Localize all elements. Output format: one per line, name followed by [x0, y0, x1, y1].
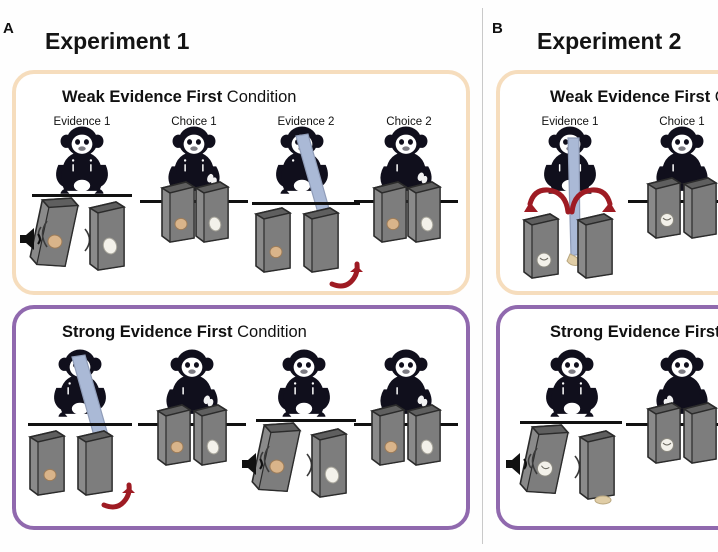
scene-a-weak-choice-2 — [354, 122, 466, 290]
container-box-icon — [522, 212, 560, 278]
container-box-icon — [192, 403, 228, 465]
container-box-icon — [370, 403, 406, 465]
condition-box-b-weak: Weak Evidence First Condition Evidence 1… — [496, 70, 718, 295]
speaker-icon — [504, 451, 538, 477]
condition-emphasis: Weak Evidence First — [62, 88, 222, 106]
condition-label-a-strong: Strong Evidence First Condition — [62, 323, 307, 342]
container-box-icon — [194, 180, 230, 242]
condition-suffix: Condition — [222, 88, 296, 106]
condition-suffix: Condition — [233, 323, 307, 341]
condition-emphasis: Strong Evidence First — [62, 323, 233, 341]
container-box-icon — [28, 429, 66, 495]
container-box-icon — [88, 200, 126, 270]
container-box-icon — [254, 206, 292, 272]
panel-letter-a: A — [3, 20, 14, 37]
platform-line — [28, 423, 132, 426]
condition-label-b-weak: Weak Evidence First Condition — [550, 88, 718, 107]
condition-emphasis: Weak Evidence First — [550, 88, 710, 106]
reward-pellet-icon — [594, 495, 612, 505]
container-box-icon — [372, 180, 408, 242]
container-box-icon — [156, 403, 192, 465]
scene-a-strong-choice-2 — [354, 345, 466, 513]
container-box-icon — [310, 427, 348, 497]
panel-title-experiment-2: Experiment 2 — [537, 28, 681, 55]
scene-a-weak-evidence-1 — [26, 122, 138, 290]
chimpanzee-icon — [266, 345, 342, 419]
scene-a-strong-choice-1 — [138, 345, 250, 513]
panel-divider — [482, 8, 483, 544]
figure-root: A Experiment 1 Weak Evidence First Condi… — [0, 0, 718, 552]
curved-arrow-icon — [100, 471, 140, 511]
container-box-icon — [160, 180, 196, 242]
panel-letter-b: B — [492, 20, 503, 37]
scene-a-strong-evidence-2 — [250, 345, 362, 513]
condition-label-a-weak: Weak Evidence First Condition — [62, 88, 297, 107]
chimpanzee-icon — [534, 345, 610, 419]
scene-a-weak-choice-1 — [138, 122, 250, 290]
condition-box-a-strong: Strong Evidence First Condition — [12, 305, 470, 530]
condition-box-a-weak: Weak Evidence First Condition Evidence 1… — [12, 70, 470, 295]
container-box-icon — [406, 180, 442, 242]
speaker-icon — [240, 451, 274, 477]
speaker-icon — [18, 226, 52, 252]
scene-b-strong-evidence-1 — [514, 345, 626, 513]
scene-b-weak-evidence-1 — [514, 122, 626, 290]
condition-box-b-strong: Strong Evidence First Condition — [496, 305, 718, 530]
container-box-icon — [682, 176, 718, 238]
condition-suffix: Condition — [710, 88, 718, 106]
container-box-icon — [682, 401, 718, 463]
platform-line — [252, 202, 360, 205]
container-box-icon — [578, 429, 616, 499]
scene-a-weak-evidence-2 — [250, 122, 362, 290]
scene-a-strong-evidence-1 — [26, 345, 138, 513]
condition-label-b-strong: Strong Evidence First Condition — [550, 323, 718, 342]
chimpanzee-icon — [44, 122, 120, 196]
condition-emphasis: Strong Evidence First — [550, 323, 718, 341]
panel-title-experiment-1: Experiment 1 — [45, 28, 189, 55]
container-box-icon — [646, 401, 682, 463]
scene-b-weak-choice-1 — [626, 122, 718, 290]
container-box-icon — [406, 403, 442, 465]
container-box-icon — [646, 176, 682, 238]
container-box-icon — [576, 212, 614, 278]
scene-b-strong-choice-1 — [626, 345, 718, 513]
